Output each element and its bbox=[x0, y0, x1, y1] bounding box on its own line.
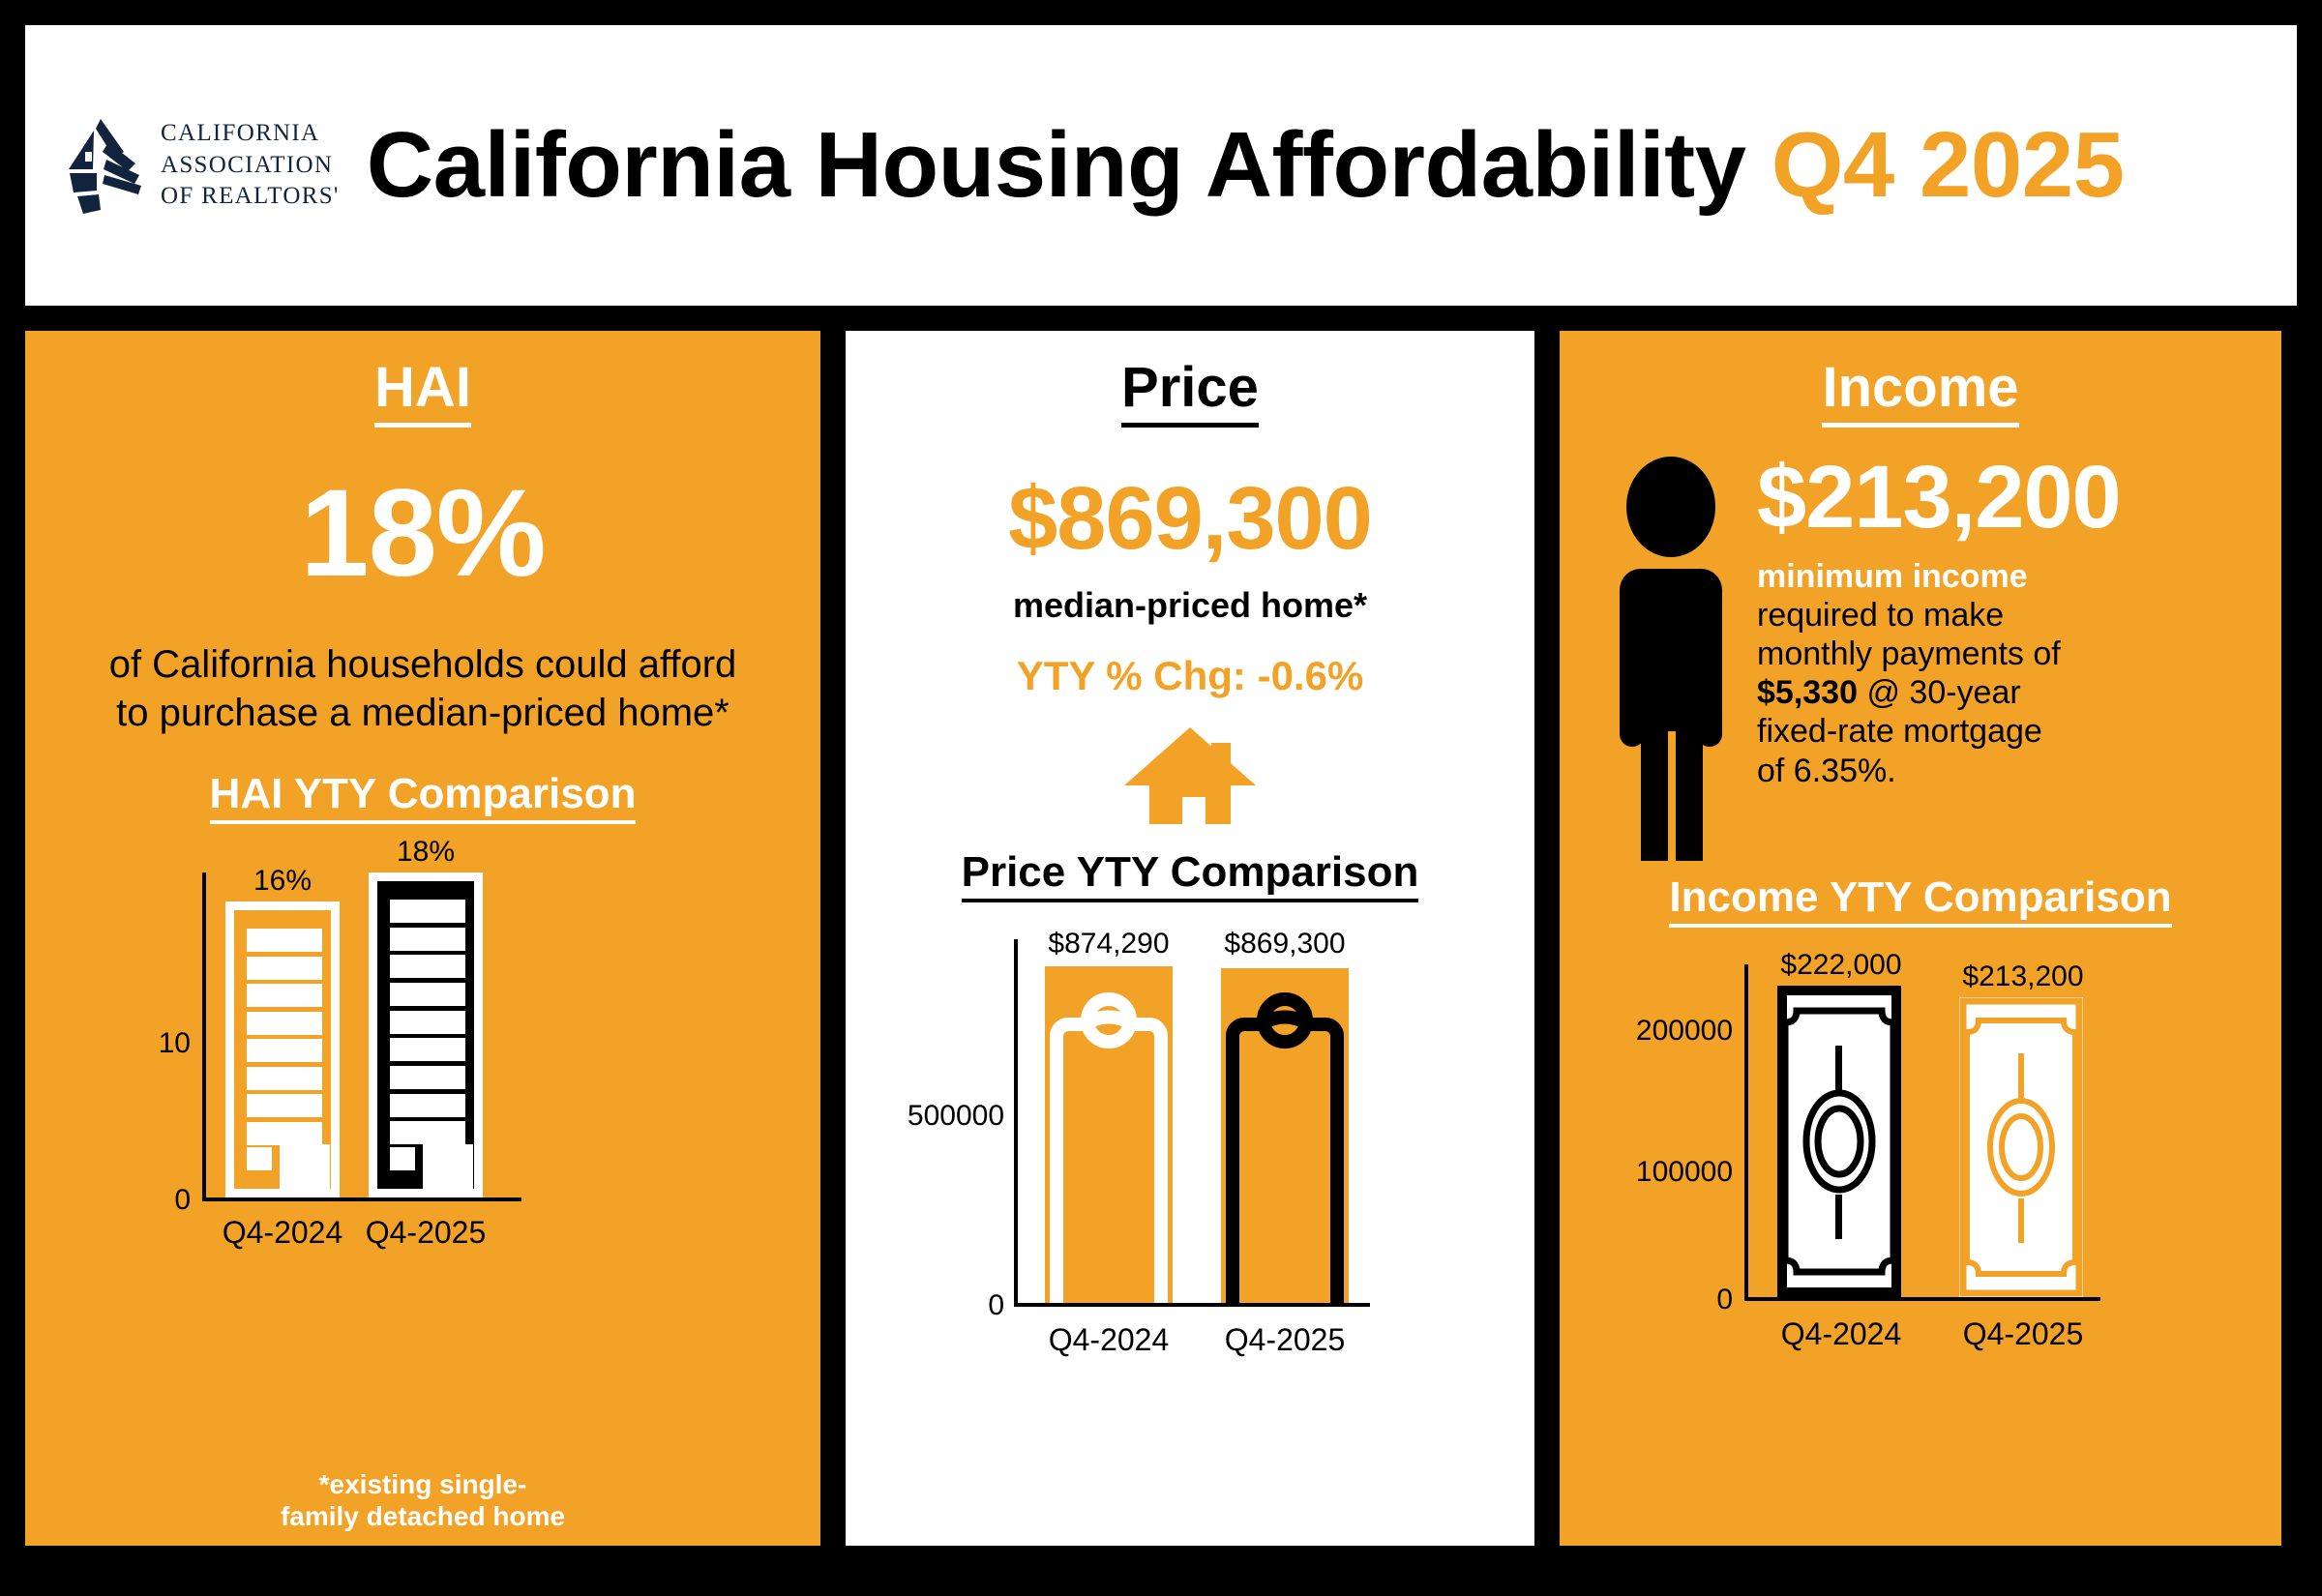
hai-ytick-0: 0 bbox=[127, 1186, 191, 1215]
price-cat-label-1: Q4-2025 bbox=[1209, 1324, 1360, 1355]
hai-cat-label-0: Q4-2024 bbox=[220, 1217, 345, 1248]
hai-y-axis bbox=[202, 872, 206, 1201]
income-bar-0 bbox=[1777, 986, 1901, 1297]
hai-footnote-line-1: *existing single- bbox=[25, 1468, 820, 1500]
price-ytd-change: YTY % Chg: -0.6% bbox=[846, 656, 1534, 696]
income-section-title-text: Income bbox=[1822, 360, 2018, 428]
income-section-title: Income bbox=[1560, 360, 2281, 428]
house-icon bbox=[1122, 725, 1258, 826]
hai-chart-title: HAI YTY Comparison bbox=[25, 773, 820, 824]
price-tag-icon-0 bbox=[1045, 966, 1173, 1303]
car-fan-logo-icon bbox=[64, 113, 147, 218]
hai-footnote: *existing single- family detached home bbox=[25, 1468, 820, 1532]
price-y-axis bbox=[1014, 939, 1018, 1307]
hai-bar-0-door bbox=[280, 1144, 330, 1189]
logo-line-2: ASSOCIATION bbox=[161, 150, 340, 182]
hai-chart-title-text: HAI YTY Comparison bbox=[210, 773, 637, 824]
income-panel: Income $213,200 minimum income required … bbox=[1560, 331, 2281, 1546]
hai-bar-1-windows bbox=[390, 898, 461, 1147]
banknote-icon-1 bbox=[1959, 997, 2083, 1297]
income-chart: 200000 100000 0 $222,000 $213, bbox=[1582, 945, 2259, 1332]
hai-value-label-1: 18% bbox=[363, 838, 489, 867]
income-headline: $213,200 bbox=[1757, 453, 2268, 542]
price-bar-1 bbox=[1221, 968, 1349, 1303]
hai-description: of California households could afford to… bbox=[25, 640, 820, 738]
income-hero-row: $213,200 minimum income required to make… bbox=[1560, 447, 2281, 863]
income-bar-1 bbox=[1959, 997, 2083, 1297]
income-ytick-100000: 100000 bbox=[1595, 1158, 1733, 1187]
income-desc-line-6: of 6.35%. bbox=[1757, 753, 1896, 789]
header-bar: CALIFORNIA ASSOCIATION OF REALTORS' Cali… bbox=[25, 25, 2297, 306]
banknote-icon-0 bbox=[1777, 986, 1901, 1297]
price-ytick-0: 0 bbox=[877, 1291, 1004, 1320]
income-desc-line-4: @ 30-year bbox=[1858, 674, 2021, 711]
income-cat-label-1: Q4-2025 bbox=[1948, 1318, 2099, 1349]
car-logo: CALIFORNIA ASSOCIATION OF REALTORS' bbox=[64, 113, 340, 218]
income-chart-title-text: Income YTY Comparison bbox=[1669, 876, 2171, 928]
price-value-label-1: $869,300 bbox=[1209, 930, 1360, 959]
person-icon bbox=[1602, 457, 1740, 863]
hai-bar-0-base-window bbox=[247, 1147, 272, 1170]
hai-panel: HAI 18% of California households could a… bbox=[25, 331, 820, 1546]
logo-line-1: CALIFORNIA bbox=[161, 118, 340, 150]
income-desc-line-1: minimum income bbox=[1757, 558, 2028, 595]
hai-bar-0-windows bbox=[247, 927, 318, 1147]
price-bar-0 bbox=[1045, 966, 1173, 1303]
hai-ytick-10: 10 bbox=[127, 1029, 191, 1058]
price-chart: 500000 0 $874,290 $869,300 bbox=[871, 922, 1509, 1309]
price-cat-label-0: Q4-2024 bbox=[1033, 1324, 1184, 1355]
price-headline: $869,300 bbox=[846, 474, 1534, 563]
car-logo-text: CALIFORNIA ASSOCIATION OF REALTORS' bbox=[161, 118, 340, 213]
income-text-col: $213,200 minimum income required to make… bbox=[1757, 447, 2281, 863]
hai-headline: 18% bbox=[25, 472, 820, 596]
hai-x-axis bbox=[202, 1197, 521, 1201]
hai-footnote-line-2: family detached home bbox=[25, 1500, 820, 1532]
income-value-label-1: $213,200 bbox=[1948, 962, 2099, 991]
price-chart-title: Price YTY Comparison bbox=[846, 851, 1534, 902]
price-subtitle: median-priced home* bbox=[846, 588, 1534, 623]
income-desc-line-5: fixed-rate mortgage bbox=[1757, 713, 2042, 750]
income-value-label-0: $222,000 bbox=[1766, 951, 1917, 980]
hai-bar-1-door bbox=[423, 1144, 473, 1189]
infographic-root: CALIFORNIA ASSOCIATION OF REALTORS' Cali… bbox=[0, 0, 2322, 1596]
price-value-label-0: $874,290 bbox=[1033, 930, 1184, 959]
hai-section-title: HAI bbox=[25, 360, 820, 428]
logo-line-3: OF REALTORS' bbox=[161, 181, 340, 213]
page-title: California Housing Affordability Q4 2025 bbox=[367, 119, 2125, 212]
income-desc-amount: $5,330 bbox=[1757, 674, 1858, 711]
income-cat-label-0: Q4-2024 bbox=[1766, 1318, 1917, 1349]
hai-section-title-text: HAI bbox=[374, 360, 471, 428]
price-ytick-500000: 500000 bbox=[877, 1102, 1004, 1131]
price-chart-title-text: Price YTY Comparison bbox=[962, 851, 1419, 902]
income-description: minimum income required to make monthly … bbox=[1757, 557, 2268, 790]
income-chart-title: Income YTY Comparison bbox=[1560, 876, 2281, 928]
hai-cat-label-1: Q4-2025 bbox=[363, 1217, 489, 1248]
page-title-quarter: Q4 2025 bbox=[1771, 113, 2125, 217]
price-panel: Price $869,300 median-priced home* YTY %… bbox=[846, 331, 1534, 1546]
page-title-main: California Housing Affordability bbox=[367, 113, 1746, 217]
income-x-axis bbox=[1744, 1297, 2100, 1301]
price-section-title-text: Price bbox=[1121, 360, 1259, 428]
hai-value-label-0: 16% bbox=[220, 867, 345, 896]
panel-row: HAI 18% of California households could a… bbox=[25, 331, 2297, 1546]
price-x-axis bbox=[1014, 1303, 1370, 1307]
income-desc-line-3: monthly payments of bbox=[1757, 635, 2061, 672]
income-y-axis bbox=[1744, 964, 1748, 1301]
price-section-title: Price bbox=[846, 360, 1534, 428]
price-tag-icon-1 bbox=[1221, 968, 1349, 1303]
hai-chart: 10 0 16% bbox=[84, 845, 761, 1232]
income-ytick-200000: 200000 bbox=[1595, 1017, 1733, 1046]
hai-bar-0 bbox=[225, 901, 340, 1197]
hai-bar-1 bbox=[369, 872, 483, 1197]
income-desc-line-2: required to make bbox=[1757, 597, 2004, 634]
hai-bar-1-base-window bbox=[390, 1147, 415, 1170]
income-ytick-0: 0 bbox=[1595, 1286, 1733, 1315]
